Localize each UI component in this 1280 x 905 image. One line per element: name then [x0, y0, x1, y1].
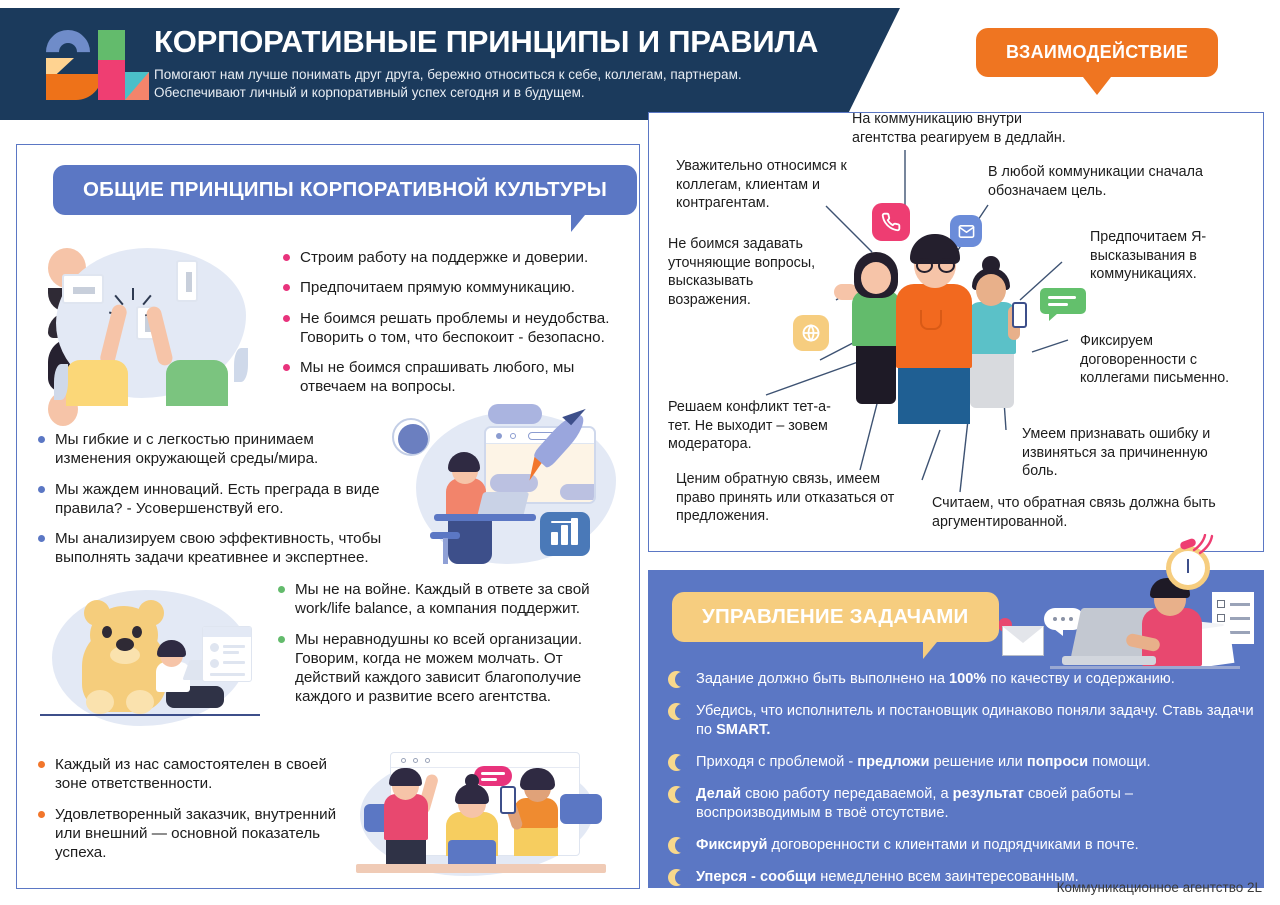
people-group-illustration [848, 198, 1058, 428]
task-text: Делай свою работу передаваемой, а резуль… [696, 786, 1133, 821]
list-item: Мы не боимся спрашивать любого, мы отвеч… [283, 358, 623, 397]
list-item: Мы жаждем инноваций. Есть преграда в вид… [38, 480, 383, 519]
list-item: Каждый из нас самостоятелен в своей зоне… [38, 755, 358, 794]
culture-bullets-green: Мы не на войне. Каждый в ответе за свой … [278, 580, 618, 718]
list-item: Предпочитаем прямую коммуникацию. [283, 278, 623, 297]
interaction-note-10: Считаем, что обратная связь должна быть … [932, 494, 1217, 531]
clock-ring-waves-icon [1192, 534, 1220, 556]
list-item: Фиксируй договоренности с клиентами и по… [660, 836, 1256, 855]
list-item: Приходя с проблемой - предложи решение и… [660, 753, 1256, 772]
interaction-note-2: Уважительно относимся к коллегам, клиент… [676, 157, 876, 213]
interaction-note-1: На коммуникацию внутри агентства реагиру… [852, 110, 1082, 147]
header-banner: КОРПОРАТИВНЫЕ ПРИНЦИПЫ И ПРАВИЛА Помогаю… [0, 8, 900, 120]
task-ribbon-wrapper: УПРАВЛЕНИЕ ЗАДАЧАМИ [672, 592, 999, 642]
infographic-page: КОРПОРАТИВНЫЕ ПРИНЦИПЫ И ПРАВИЛА Помогаю… [0, 0, 1280, 905]
culture-ribbon-label: ОБЩИЕ ПРИНЦИПЫ КОРПОРАТИВНОЙ КУЛЬТУРЫ [53, 165, 637, 215]
footer-credit: Коммуникационное агентство 2L [1057, 880, 1262, 895]
globe-icon [793, 315, 829, 351]
crescent-bullet-icon [668, 754, 685, 771]
interaction-tag-label: ВЗАИМОДЕЙСТВИЕ [976, 28, 1218, 77]
rocket-launch-illustration [392, 404, 622, 572]
task-rules-list: Задание должно быть выполнено на 100% по… [660, 670, 1256, 900]
high-five-illustration [48, 248, 253, 403]
header-text-block: КОРПОРАТИВНЫЕ ПРИНЦИПЫ И ПРАВИЛА Помогаю… [154, 26, 818, 102]
culture-bullets-blue: Мы гибкие и с легкостью принимаем измене… [38, 430, 383, 579]
page-subtitle: Помогают нам лучше понимать друг друга, … [154, 66, 774, 102]
crescent-bullet-icon [668, 869, 685, 886]
list-item: Удовлетворенный заказчик, внутренний или… [38, 805, 358, 863]
interaction-note-5: Предпочитаем Я-высказывания в коммуникац… [1090, 228, 1260, 284]
list-item: Убедись, что исполнитель и постановщик о… [660, 702, 1256, 740]
culture-bullets-orange: Каждый из нас самостоятелен в своей зоне… [38, 755, 358, 873]
task-text: Задание должно быть выполнено на 100% по… [696, 671, 1175, 687]
task-text: Уперся - сообщи немедленно всем заинтере… [696, 869, 1079, 885]
task-text: Фиксируй договоренности с клиентами и по… [696, 837, 1139, 853]
interaction-note-4: Не боимся задавать уточняющие вопросы, в… [668, 235, 838, 309]
list-item: Мы анализируем свою эффективность, чтобы… [38, 529, 383, 568]
logo-2l-icon [40, 26, 132, 102]
culture-bullets-pink: Строим работу на поддержке и доверии. Пр… [283, 248, 623, 408]
interaction-note-8: Умеем признавать ошибку и извиняться за … [1022, 425, 1232, 481]
interaction-note-6: Фиксируем договоренности с коллегами пис… [1080, 332, 1260, 388]
list-item: Делай свою работу передаваемой, а резуль… [660, 785, 1256, 823]
crescent-bullet-icon [668, 671, 685, 688]
crescent-bullet-icon [668, 703, 685, 720]
list-item: Строим работу на поддержке и доверии. [283, 248, 623, 267]
crescent-bullet-icon [668, 837, 685, 854]
teddy-bear-illustration [40, 586, 260, 738]
team-meeting-illustration [348, 750, 618, 885]
list-item: Мы неравнодушны ко всей организации. Гов… [278, 630, 618, 707]
interaction-note-3: В любой коммуникации сначала обозначаем … [988, 163, 1218, 200]
crescent-bullet-icon [668, 786, 685, 803]
task-text: Убедись, что исполнитель и постановщик о… [696, 703, 1254, 738]
page-title: КОРПОРАТИВНЫЕ ПРИНЦИПЫ И ПРАВИЛА [154, 26, 818, 59]
list-item: Мы гибкие и с легкостью принимаем измене… [38, 430, 383, 469]
interaction-note-7: Решаем конфликт тет-а-тет. Не выходит – … [668, 398, 848, 454]
list-item: Мы не на войне. Каждый в ответе за свой … [278, 580, 618, 619]
list-item: Не боимся решать проблемы и неудобства. … [283, 309, 623, 348]
task-text: Приходя с проблемой - предложи решение и… [696, 754, 1151, 770]
task-ribbon-label: УПРАВЛЕНИЕ ЗАДАЧАМИ [672, 592, 999, 642]
list-item: Задание должно быть выполнено на 100% по… [660, 670, 1256, 689]
interaction-note-9: Ценим обратную связь, имеем право принят… [676, 470, 896, 526]
